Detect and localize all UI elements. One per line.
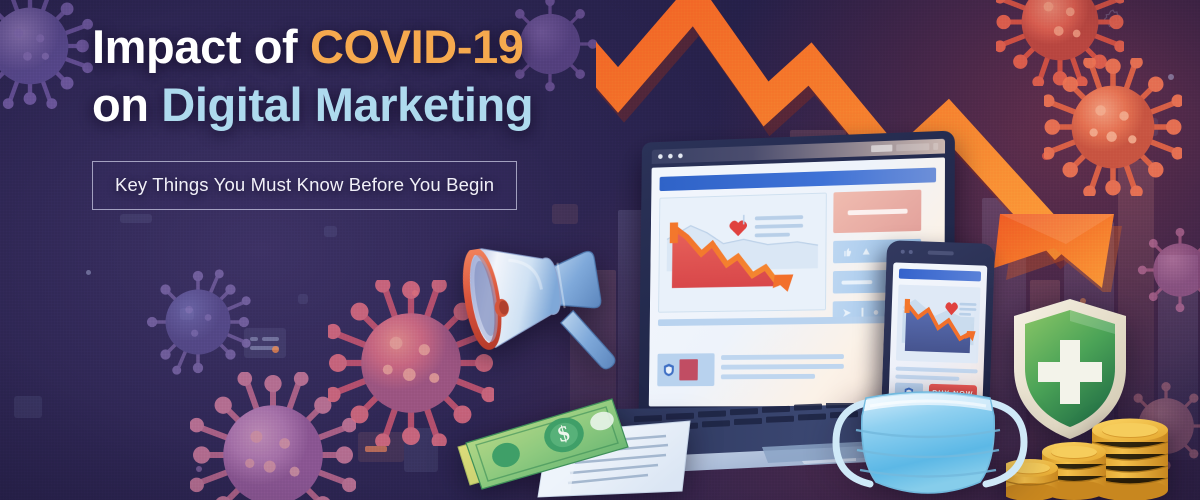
shield-badge-icon bbox=[663, 363, 675, 376]
phone-camera-icon bbox=[901, 250, 905, 254]
badge-card bbox=[657, 353, 714, 386]
promo-banner[interactable] bbox=[833, 190, 921, 234]
megaphone-icon bbox=[445, 228, 636, 398]
coin-stacks bbox=[1006, 408, 1200, 500]
text-line bbox=[721, 374, 815, 379]
phone-speaker bbox=[928, 251, 954, 256]
window-dot[interactable] bbox=[678, 153, 683, 158]
headline-line1-plain: Impact of bbox=[92, 20, 310, 73]
text-line bbox=[895, 375, 959, 381]
text-line bbox=[896, 367, 978, 374]
covid-digital-marketing-banner: Impact of COVID-19 on Digital Marketing … bbox=[0, 0, 1200, 500]
subtitle-box: Key Things You Must Know Before You Begi… bbox=[92, 161, 517, 210]
window-dot[interactable] bbox=[658, 154, 663, 159]
thumbs-up-icon bbox=[842, 246, 853, 257]
window-dot[interactable] bbox=[668, 154, 673, 159]
headline-line2-accent: Digital Marketing bbox=[161, 78, 533, 131]
headline-line1-accent: COVID-19 bbox=[310, 20, 524, 73]
headline-line2-plain: on bbox=[92, 78, 161, 131]
phone-camera-icon bbox=[909, 250, 913, 254]
page-title: Impact of COVID-19 on Digital Marketing bbox=[92, 18, 652, 135]
declining-line-chart bbox=[896, 285, 981, 364]
dot-icon bbox=[872, 308, 880, 316]
site-navbar bbox=[660, 168, 937, 192]
phone-navbar bbox=[899, 269, 981, 282]
browser-tabs[interactable] bbox=[871, 143, 938, 152]
declining-line-chart bbox=[659, 194, 826, 312]
cash-and-documents: $ bbox=[452, 385, 697, 500]
text-line bbox=[721, 354, 844, 360]
subtitle-text: Key Things You Must Know Before You Begi… bbox=[115, 174, 494, 195]
surgical-face-mask bbox=[826, 382, 1032, 500]
headline-block: Impact of COVID-19 on Digital Marketing … bbox=[92, 18, 652, 210]
phone-chart-card bbox=[896, 285, 981, 364]
text-line bbox=[721, 364, 844, 370]
triangle-icon bbox=[861, 246, 872, 257]
laptop-chart-card bbox=[658, 193, 827, 313]
